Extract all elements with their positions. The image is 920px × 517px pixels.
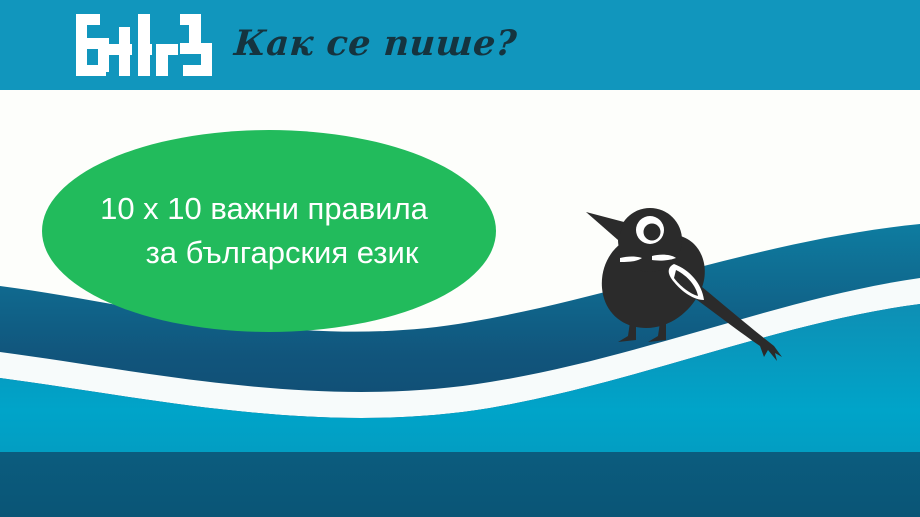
bird-icon [578, 196, 808, 361]
stage: 10 х 10 важни правила за българския език [0, 90, 920, 517]
banner: Как се пише? [0, 0, 920, 517]
callout-line-1: 10 х 10 важни правила [100, 187, 428, 231]
callout-line-2: за българския език [146, 231, 419, 275]
site-logo-icon[interactable] [76, 14, 212, 76]
header-bar: Как се пише? [0, 0, 920, 90]
callout-oval: 10 х 10 важни правила за българския език [42, 130, 496, 332]
header-brand[interactable]: Как се пише? [76, 0, 517, 90]
header-tagline: Как се пише? [232, 23, 518, 68]
